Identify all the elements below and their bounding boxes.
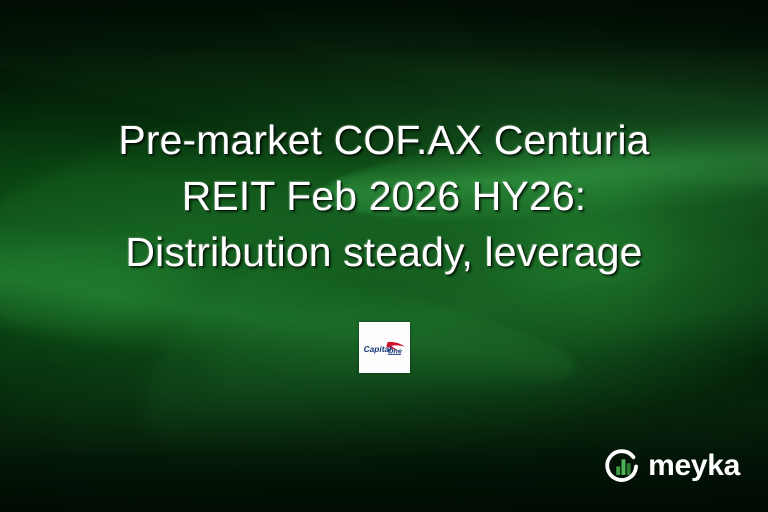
svg-text:One: One bbox=[387, 346, 401, 355]
capital-one-logo: Capital One bbox=[359, 322, 410, 373]
meyka-wordmark: meyka bbox=[648, 451, 740, 481]
meyka-circle-bars-icon bbox=[605, 448, 641, 484]
meyka-brand: meyka bbox=[605, 448, 740, 484]
promo-card: Pre-market COF.AX Centuria REIT Feb 2026… bbox=[0, 0, 768, 512]
headline-text: Pre-market COF.AX Centuria REIT Feb 2026… bbox=[0, 112, 768, 280]
capital-one-logo-icon: Capital One bbox=[363, 340, 407, 356]
